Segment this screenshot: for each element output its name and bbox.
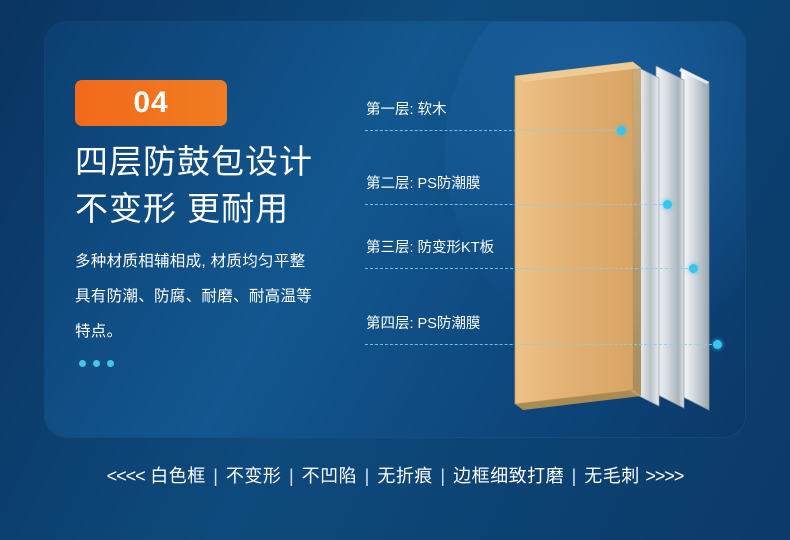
caption-left-arrows: <<<< — [107, 466, 145, 486]
layer-label-2: 第二层: PS防潮膜 — [365, 172, 725, 193]
caption-right-arrows: >>>> — [645, 466, 683, 486]
layer-label-4-text: 第四层: PS防潮膜 — [365, 312, 725, 333]
leader-node-3 — [689, 264, 698, 273]
caption-item-6: 无毛刺 — [584, 466, 640, 486]
headline-line-2: 不变形 更耐用 — [75, 185, 313, 232]
caption-separator: | — [438, 466, 447, 486]
dot-icon — [107, 360, 114, 367]
description-line-3: 特点。 — [75, 314, 312, 349]
caption-item-5: 边框细致打磨 — [453, 466, 564, 486]
caption-item-1: 白色框 — [150, 466, 206, 486]
leader-line-4 — [365, 344, 717, 346]
layer-labels: 第一层: 软木 第二层: PS防潮膜 第三层: 防变形KT板 第四层: PS防潮… — [365, 22, 745, 437]
leader-node-4 — [713, 340, 722, 349]
content-card: 04 四层防鼓包设计 不变形 更耐用 多种材质相辅相成, 材质均匀平整 具有防潮… — [45, 22, 745, 437]
caption-separator: | — [287, 466, 296, 486]
layer-label-1: 第一层: 软木 — [365, 98, 725, 119]
headline: 四层防鼓包设计 不变形 更耐用 — [75, 138, 313, 232]
headline-line-1: 四层防鼓包设计 — [75, 138, 313, 185]
caption-separator: | — [570, 466, 579, 486]
caption-item-3: 不凹陷 — [302, 466, 358, 486]
leader-line-1 — [365, 130, 621, 132]
layer-label-3: 第三层: 防变形KT板 — [365, 236, 725, 257]
feature-caption: <<<< 白色框 | 不变形 | 不凹陷 | 无折痕 | 边框细致打磨 | 无毛… — [0, 462, 790, 488]
leader-line-3 — [365, 268, 693, 270]
caption-item-2: 不变形 — [226, 466, 282, 486]
dot-icon — [79, 360, 86, 367]
description-line-1: 多种材质相辅相成, 材质均匀平整 — [75, 244, 312, 279]
dot-icon — [93, 360, 100, 367]
caption-separator: | — [363, 466, 372, 486]
leader-node-1 — [617, 126, 626, 135]
leader-node-2 — [663, 200, 672, 209]
poster-background: 04 四层防鼓包设计 不变形 更耐用 多种材质相辅相成, 材质均匀平整 具有防潮… — [0, 0, 790, 540]
caption-item-4: 无折痕 — [377, 466, 433, 486]
section-number-badge: 04 — [75, 80, 227, 126]
description-text: 多种材质相辅相成, 材质均匀平整 具有防潮、防腐、耐磨、耐高温等 特点。 — [75, 244, 312, 349]
description-line-2: 具有防潮、防腐、耐磨、耐高温等 — [75, 279, 312, 314]
decorative-dots — [79, 360, 114, 367]
layer-label-1-text: 第一层: 软木 — [365, 98, 725, 119]
layer-label-4: 第四层: PS防潮膜 — [365, 312, 725, 333]
layer-label-2-text: 第二层: PS防潮膜 — [365, 172, 725, 193]
caption-separator: | — [211, 466, 220, 486]
layer-label-3-text: 第三层: 防变形KT板 — [365, 236, 725, 257]
leader-line-2 — [365, 204, 667, 206]
